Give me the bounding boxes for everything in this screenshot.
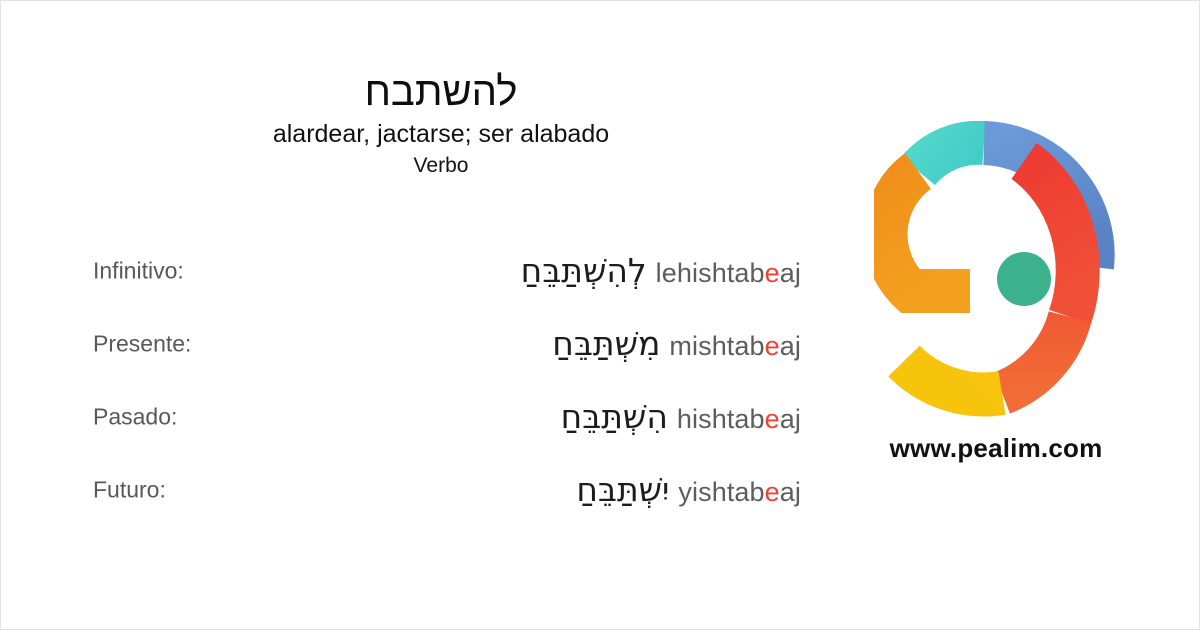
row-label-presente: Presente:	[93, 330, 191, 357]
part-of-speech: Verbo	[1, 152, 881, 180]
transliteration-infinitivo: lehishtabeaj	[656, 257, 801, 289]
hebrew-form-presente: מִשְׁתַּבֵּחַ	[552, 325, 660, 363]
site-url[interactable]: www.pealim.com	[861, 433, 1131, 464]
row-values-pasado: הִשְׁתַּבֵּחַ hishtabeaj	[561, 398, 801, 436]
table-row: Presente: מִשְׁתַּבֵּחַ mishtabeaj	[1, 307, 831, 380]
page-title-hebrew: להשתבח	[1, 69, 881, 115]
translit-stress: e	[765, 404, 780, 434]
translit-part: aj	[780, 404, 801, 434]
hebrew-form-infinitivo: לְהִשְׁתַּבֵּחַ	[521, 252, 647, 290]
logo-dot	[997, 252, 1051, 306]
transliteration-futuro: yishtabeaj	[678, 476, 801, 508]
translit-stress: e	[765, 331, 780, 361]
table-row: Pasado: הִשְׁתַּבֵּחַ hishtabeaj	[1, 380, 831, 453]
hebrew-form-futuro: יִשְׁתַּבֵּחַ	[576, 471, 669, 509]
table-row: Futuro: יִשְׁתַּבֵּחַ yishtabeaj	[1, 453, 831, 526]
row-label-pasado: Pasado:	[93, 403, 177, 430]
translit-part: lehishtab	[656, 258, 765, 288]
translit-part: aj	[780, 258, 801, 288]
translit-part: aj	[780, 331, 801, 361]
table-row: Infinitivo: לְהִשְׁתַּבֵּחַ lehishtabeaj	[1, 234, 831, 307]
transliteration-presente: mishtabeaj	[669, 330, 801, 362]
conjugation-table: Infinitivo: לְהִשְׁתַּבֵּחַ lehishtabeaj…	[1, 234, 831, 526]
row-values-futuro: יִשְׁתַּבֵּחַ yishtabeaj	[576, 471, 801, 509]
brand-block: www.pealim.com	[861, 121, 1131, 464]
hebrew-form-pasado: הִשְׁתַּבֵּחַ	[561, 398, 668, 436]
verb-card: להשתבח alardear, jactarse; ser alabado V…	[0, 0, 1200, 630]
row-values-presente: מִשְׁתַּבֵּחַ mishtabeaj	[552, 325, 801, 363]
translit-part: mishtab	[669, 331, 764, 361]
translit-stress: e	[765, 258, 780, 288]
translit-part: hishtab	[677, 404, 765, 434]
row-values-infinitivo: לְהִשְׁתַּבֵּחַ lehishtabeaj	[521, 252, 801, 290]
translit-stress: e	[765, 477, 780, 507]
transliteration-pasado: hishtabeaj	[677, 403, 801, 435]
row-label-futuro: Futuro:	[93, 476, 166, 503]
row-label-infinitivo: Infinitivo:	[93, 257, 184, 284]
pealim-logo-icon	[874, 121, 1119, 421]
translit-part: aj	[780, 477, 801, 507]
word-translation: alardear, jactarse; ser alabado	[1, 118, 881, 150]
word-header: להשתבח alardear, jactarse; ser alabado V…	[1, 69, 881, 180]
translit-part: yishtab	[678, 477, 764, 507]
